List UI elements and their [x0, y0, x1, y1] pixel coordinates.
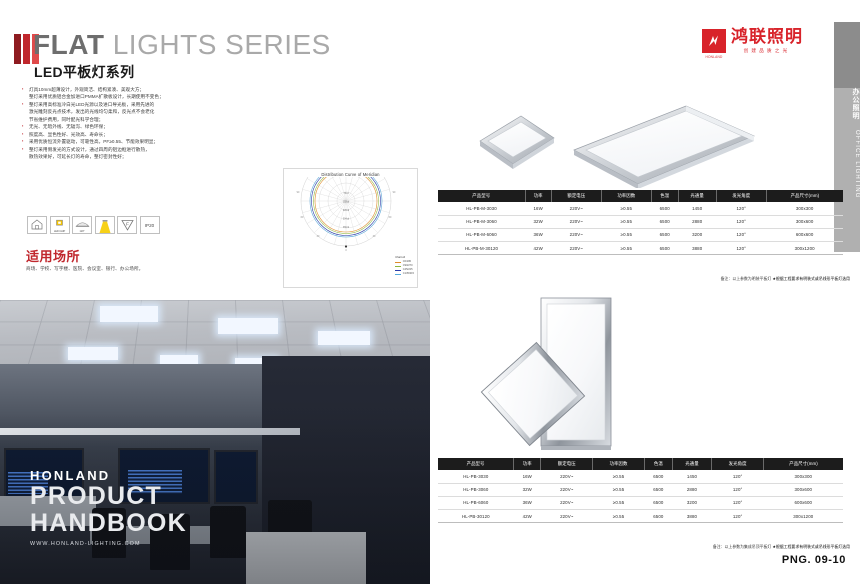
icon-caption: LED CHIP: [51, 230, 69, 233]
brand-website[interactable]: WWW.HONLAND-LIGHTING.COM: [30, 541, 187, 547]
cell-lumens: 2880: [678, 215, 716, 228]
svg-text:228cd: 228cd: [343, 210, 350, 212]
cell-size: 300x1200: [764, 509, 843, 522]
col-model: 产品型号: [438, 190, 525, 202]
catalog-page: FLAT LIGHTS SERIES LED平板灯系列 灯具10mm超薄设计，外…: [0, 0, 860, 584]
page-title: FLAT LIGHTS SERIES: [33, 29, 331, 61]
company-logo: HONLAND 鸿联照明 创建品质之光: [702, 28, 803, 54]
cell-power: 32W: [514, 483, 541, 496]
application-heading: 适用场所: [26, 246, 80, 265]
table-row: HL-PB-6060 36W 220V~ ≥0.55 6500 3200 120…: [438, 496, 843, 509]
brand-block: HONLAND PRODUCT HANDBOOK WWW.HONLAND-LIG…: [30, 468, 187, 547]
cell-angle: 120°: [716, 215, 766, 228]
legend-swatch: [395, 274, 401, 275]
cell-power: 42W: [525, 241, 551, 254]
table-note-bottom: 备注：以上参数为集成吊顶平板灯 ★根据工程要求有明装式或吊线形平板灯选用: [713, 544, 850, 550]
cell-angle: 120°: [716, 202, 766, 215]
icon-caption: 120°: [73, 230, 91, 233]
page-number: PNG. 09-10: [782, 554, 846, 566]
cell-cct: 6500: [651, 228, 678, 241]
col-dimensions: 产品尺寸(mm): [766, 190, 843, 202]
table-row: HL-PB-3060 32W 220V~ ≥0.55 6500 2880 120…: [438, 483, 843, 496]
logo-name-cn: 鸿联照明: [731, 28, 803, 45]
svg-text:60: 60: [389, 216, 392, 219]
application-note: 商场、学校、写字楼、医院、会议室、银行、办公场所。: [26, 266, 143, 272]
brand-name: HONLAND: [30, 468, 187, 483]
table-note-main: 备注：以上参数为集成吊顶平板灯: [713, 545, 771, 549]
list-item: 采用优质恒流外置驱动，可靠性高，PF≥0.55、节能效果明显；: [22, 138, 272, 145]
cell-angle: 120°: [712, 483, 764, 496]
cell-power: 16W: [514, 470, 541, 483]
col-beam-angle: 发光角度: [712, 458, 764, 470]
cell-voltage: 220V~: [551, 215, 601, 228]
table-row: HL-PB-M-3060 32W 220V~ ≥0.55 6500 2880 1…: [438, 215, 843, 228]
cell-angle: 120°: [716, 241, 766, 254]
svg-text:90: 90: [297, 191, 300, 194]
col-model: 产品型号: [438, 458, 514, 470]
spec-table-surface-mounted: 产品型号 功率 额定电压 功率因数 色温 光通量 发光角度 产品尺寸(mm) H…: [438, 190, 843, 255]
col-voltage: 额定电压: [541, 458, 593, 470]
side-tab-top: [834, 22, 860, 88]
cell-voltage: 220V~: [541, 496, 593, 509]
list-item: 整灯采用侧发光的方式设计，通过四周的铝边框进行散热， 散热效果好，可延长灯的寿命…: [22, 146, 272, 161]
table-row: HL-PB-M-30120 42W 220V~ ≥0.55 6500 3880 …: [438, 241, 843, 254]
col-power: 功率: [525, 190, 551, 202]
page-title-flat: FLAT: [33, 29, 104, 60]
feature-bullet-list: 灯具10mm超薄设计，外观简洁、结构紧凑、美观大方； 整灯采用优质铝合金加进口P…: [22, 86, 272, 160]
cell-cct: 6500: [644, 509, 672, 522]
logo-slogan: 创建品质之光: [731, 48, 803, 54]
legend-swatch: [395, 262, 401, 263]
page-subtitle: LED平板灯系列: [34, 62, 134, 82]
right-column: HONLAND 鸿联照明 创建品质之光 办公照明 OFFICE LIGHTING: [430, 0, 860, 584]
distribution-curve-chart: Distribution Curve of Meridian: [283, 168, 418, 288]
cell-model: HL-PB-30120: [438, 509, 514, 522]
cell-power: 36W: [525, 228, 551, 241]
cell-cct: 6500: [644, 483, 672, 496]
col-voltage: 额定电压: [551, 190, 601, 202]
cell-pf: ≥0.55: [593, 496, 645, 509]
brand-handbook: HANDBOOK: [30, 510, 187, 537]
svg-text:60: 60: [301, 216, 304, 219]
table-row: HL-PB-M-3030 16W 220V~ ≥0.55 6500 1450 1…: [438, 202, 843, 215]
cell-power: 36W: [514, 496, 541, 509]
logo-mark-icon: HONLAND: [702, 29, 726, 53]
col-dimensions: 产品尺寸(mm): [764, 458, 843, 470]
cell-voltage: 220V~: [551, 228, 601, 241]
table-note-main: 备注：以上参数为明装平板灯: [721, 277, 772, 281]
cell-size: 300x300: [766, 202, 843, 215]
f-mark-icon: F: [117, 216, 137, 234]
surface-mount-icon: 120°: [72, 216, 92, 234]
brand-product: PRODUCT: [30, 483, 187, 510]
cell-voltage: 220V~: [541, 509, 593, 522]
svg-text:0: 0: [345, 249, 347, 252]
table-note-star: ★根据工程要求有明装式或吊线形平板灯选用: [772, 277, 850, 281]
logo-text-group: 鸿联照明 创建品质之光: [731, 28, 803, 54]
list-item: 无光、无暗外线、无辐泻、绿色环保；: [22, 123, 272, 130]
cell-model: HL-PB-3030: [438, 470, 514, 483]
left-column: FLAT LIGHTS SERIES LED平板灯系列 灯具10mm超薄设计，外…: [0, 0, 430, 584]
col-lumens: 光通量: [678, 190, 716, 202]
office-interior-photo: HONLAND PRODUCT HANDBOOK WWW.HONLAND-LIG…: [0, 300, 430, 584]
cell-cct: 6500: [644, 496, 672, 509]
col-beam-angle: 发光角度: [716, 190, 766, 202]
svg-text:152cd: 152cd: [343, 201, 350, 203]
cell-cct: 6500: [644, 470, 672, 483]
spec-table-recessed: 产品型号 功率 额定电压 功率因数 色温 光通量 发光角度 产品尺寸(mm) H…: [438, 458, 843, 523]
cell-pf: ≥0.55: [601, 215, 651, 228]
cell-size: 300x300: [764, 470, 843, 483]
col-lumens: 光通量: [672, 458, 712, 470]
cell-power: 42W: [514, 509, 541, 522]
product-photo-group-bottom: [438, 296, 843, 458]
cell-size: 300x600: [764, 483, 843, 496]
cell-lumens: 3200: [672, 496, 712, 509]
cell-pf: ≥0.55: [593, 483, 645, 496]
col-cct: 色温: [651, 190, 678, 202]
logo-mark-caption: HONLAND: [702, 55, 726, 59]
page-title-rest: LIGHTS SERIES: [113, 29, 331, 60]
cell-model: HL-PB-M-3030: [438, 202, 525, 215]
legend-item: C135/315: [395, 272, 414, 276]
svg-text:304cd: 304cd: [343, 219, 350, 221]
list-item: 灯具10mm超薄设计，外观简洁、结构紧凑、美观大方； 整灯采用优质铝合金加进口P…: [22, 86, 272, 101]
cell-voltage: 220V~: [541, 483, 593, 496]
svg-text:76cd: 76cd: [344, 193, 350, 195]
cell-pf: ≥0.55: [593, 509, 645, 522]
legend-swatch: [395, 270, 401, 271]
cell-model: HL-PB-6060: [438, 496, 514, 509]
indoor-icon: [27, 216, 47, 234]
feature-icon-row: LED CHIP 120° F IP20: [27, 216, 160, 234]
col-power-factor: 功率因数: [593, 458, 645, 470]
chart-legend: Chart cd C0/180 C90/270 C45/225 C135/315: [395, 256, 414, 276]
cell-voltage: 220V~: [541, 470, 593, 483]
cell-size: 600x600: [766, 228, 843, 241]
ip-rating-icon: IP20: [140, 216, 160, 234]
chart-plot-area: 150150 120120 9090 6060 3030 0 76cd 152c…: [284, 177, 417, 265]
table-row: HL-PB-3030 16W 220V~ ≥0.55 6500 1450 120…: [438, 470, 843, 483]
cell-lumens: 2880: [672, 483, 712, 496]
cell-power: 32W: [525, 215, 551, 228]
cell-lumens: 1450: [678, 202, 716, 215]
cell-model: HL-PB-M-3060: [438, 215, 525, 228]
accent-bar-2: [23, 34, 30, 64]
cell-pf: ≥0.55: [601, 202, 651, 215]
cell-angle: 120°: [716, 228, 766, 241]
led-chip-icon: LED CHIP: [50, 216, 70, 234]
cell-voltage: 220V~: [551, 202, 601, 215]
cell-cct: 6500: [651, 241, 678, 254]
accent-bar-1: [14, 34, 21, 64]
cell-size: 300x1200: [766, 241, 843, 254]
table-header-row: 产品型号 功率 额定电压 功率因数 色温 光通量 发光角度 产品尺寸(mm): [438, 190, 843, 202]
table-row: HL-PB-M-6060 36W 220V~ ≥0.55 6500 3200 1…: [438, 228, 843, 241]
cell-lumens: 1450: [672, 470, 712, 483]
cell-angle: 120°: [712, 496, 764, 509]
cell-cct: 6500: [651, 202, 678, 215]
cell-voltage: 220V~: [551, 241, 601, 254]
cell-pf: ≥0.55: [601, 228, 651, 241]
list-item: 整灯采用高标准冷白光LED光源以及进口导光板，采用先进的 激光雕刻反光点技术，发…: [22, 101, 272, 123]
legend-swatch: [395, 266, 401, 267]
cell-size: 600x600: [764, 496, 843, 509]
cell-model: HL-PB-3060: [438, 483, 514, 496]
list-item: 照度高、显色性好、光效高、寿命长；: [22, 131, 272, 138]
svg-text:30: 30: [373, 235, 376, 238]
col-cct: 色温: [644, 458, 672, 470]
cell-model: HL-PB-M-6060: [438, 228, 525, 241]
cell-size: 300x600: [766, 215, 843, 228]
cell-model: HL-PB-M-30120: [438, 241, 525, 254]
table-note-star: ★根据工程要求有明装式或吊线形平板灯选用: [772, 545, 850, 549]
cell-lumens: 3200: [678, 228, 716, 241]
cell-pf: ≥0.55: [593, 470, 645, 483]
cell-cct: 6500: [651, 215, 678, 228]
svg-text:90: 90: [393, 191, 396, 194]
product-photo-group-top: [438, 88, 843, 188]
light-beam-icon: [95, 216, 115, 234]
cell-angle: 120°: [712, 509, 764, 522]
cell-angle: 120°: [712, 470, 764, 483]
svg-text:380cd: 380cd: [343, 227, 350, 229]
ip-rating-label: IP20: [145, 223, 154, 228]
cell-power: 16W: [525, 202, 551, 215]
svg-text:F: F: [126, 222, 129, 227]
cell-pf: ≥0.55: [601, 241, 651, 254]
legend-label: C135/315: [403, 272, 414, 276]
table-header-row: 产品型号 功率 额定电压 功率因数 色温 光通量 发光角度 产品尺寸(mm): [438, 458, 843, 470]
col-power-factor: 功率因数: [601, 190, 651, 202]
col-power: 功率: [514, 458, 541, 470]
cell-lumens: 3880: [678, 241, 716, 254]
table-note-top: 备注：以上参数为明装平板灯 ★根据工程要求有明装式或吊线形平板灯选用: [721, 276, 850, 282]
table-row: HL-PB-30120 42W 220V~ ≥0.55 6500 3880 12…: [438, 509, 843, 522]
cell-lumens: 3880: [672, 509, 712, 522]
